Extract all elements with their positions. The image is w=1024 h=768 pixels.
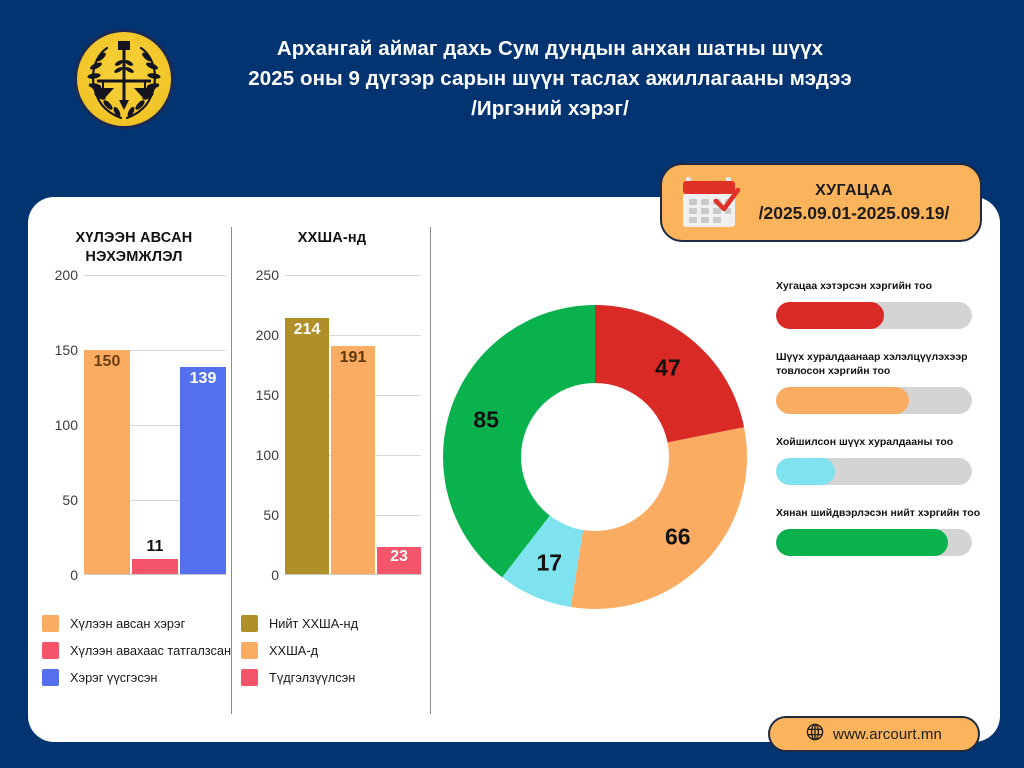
legend-swatch xyxy=(241,669,258,686)
y-tick: 200 xyxy=(256,327,279,343)
y-tick: 50 xyxy=(62,492,78,508)
y-tick: 200 xyxy=(55,267,78,283)
bar-chart-2-title: ХХША-нд xyxy=(241,227,423,269)
y-tick: 100 xyxy=(256,447,279,463)
legend-chart-1: Хүлээн авсан хэрэг Хүлээн авахаас татгал… xyxy=(42,615,231,696)
page-header: Архангай аймаг дахь Сум дундын анхан шат… xyxy=(0,0,1024,170)
metric-label: Хугацаа хэтэрсэн хэргийн тоо xyxy=(776,279,986,293)
legend-item: Хэрэг үүсгэсэн xyxy=(42,669,231,686)
bar-refused[interactable]: 11 xyxy=(132,559,178,576)
y-tick: 150 xyxy=(55,342,78,358)
donut-label-resolved: 85 xyxy=(473,406,499,433)
divider-2 xyxy=(430,227,431,714)
title-line-1: Архангай аймаг дахь Сум дундын анхан шат… xyxy=(190,34,910,64)
title-line-3: /Иргэний хэрэг/ xyxy=(190,94,910,124)
bar-chart-1-title: ХҮЛЭЭН АВСАН НЭХЭМЖЛЭЛ xyxy=(40,227,228,269)
progress-fill xyxy=(776,302,884,329)
legend-label: Түдгэлзүүлсэн xyxy=(269,670,355,685)
legend-item: Хүлээн авсан хэрэг xyxy=(42,615,231,632)
x-axis-line xyxy=(84,574,226,575)
metric-scheduled-hearings: Шүүх хуралдаанаар хэлэлцүүлэхээр товлосо… xyxy=(776,350,986,414)
donut-label-scheduled: 66 xyxy=(665,523,691,550)
globe-icon xyxy=(806,723,824,746)
legend-label: ХХША-д xyxy=(269,643,318,658)
content-card: ХҮЛЭЭН АВСАН НЭХЭМЖЛЭЛ 200 150 100 50 0 … xyxy=(28,197,1000,742)
legend-swatch xyxy=(241,642,258,659)
legend-chart-2: Нийт ХХША-нд ХХША-д Түдгэлзүүлсэн xyxy=(241,615,358,696)
divider-1 xyxy=(231,227,232,714)
website-url-text: www.arcourt.mn xyxy=(833,726,942,743)
legend-item: Хүлээн авахаас татгалзсан xyxy=(42,642,231,659)
bar-column[interactable]: 150 xyxy=(84,275,130,575)
legend-swatch xyxy=(42,642,59,659)
date-badge-label: ХУГАЦАА xyxy=(742,180,966,202)
progress-track xyxy=(776,458,972,485)
progress-track xyxy=(776,387,972,414)
calendar-icon xyxy=(680,175,742,231)
bar-chart-2-plot: 214 191 23 xyxy=(285,275,421,575)
y-tick: 150 xyxy=(256,387,279,403)
title-line-2: 2025 оны 9 дүгээр сарын шүүн таслах ажил… xyxy=(190,64,910,94)
y-tick: 100 xyxy=(55,417,78,433)
website-url-badge[interactable]: www.arcourt.mn xyxy=(768,716,980,752)
bar-value: 139 xyxy=(180,370,226,388)
donut-label-postponed: 17 xyxy=(536,549,562,576)
metrics-panel: Хугацаа хэтэрсэн хэргийн тоо Шүүх хуралд… xyxy=(776,279,986,577)
metric-resolved-cases: Хянан шийдвэрлэсэн нийт хэргийн тоо xyxy=(776,506,986,556)
bar-column[interactable]: 23 xyxy=(377,275,421,575)
y-tick: 50 xyxy=(263,507,279,523)
court-emblem-icon xyxy=(74,29,174,129)
bar-value: 150 xyxy=(84,353,130,371)
metric-postponed-hearings: Хойшилсон шүүх хуралдааны тоо xyxy=(776,435,986,485)
bar-suspended[interactable]: 23 xyxy=(377,547,421,575)
progress-fill xyxy=(776,387,909,414)
progress-track xyxy=(776,302,972,329)
bar-value: 11 xyxy=(132,538,178,556)
bar-chart-1-y-axis: 200 150 100 50 0 xyxy=(40,275,82,575)
bar-value: 191 xyxy=(331,349,375,367)
date-badge-range: /2025.09.01-2025.09.19/ xyxy=(742,202,966,225)
legend-swatch xyxy=(42,669,59,686)
legend-item: Нийт ХХША-нд xyxy=(241,615,358,632)
legend-swatch xyxy=(241,615,258,632)
bar-chart-1-plot: 150 11 139 xyxy=(84,275,226,575)
bar-column[interactable]: 139 xyxy=(180,275,226,575)
legend-swatch xyxy=(42,615,59,632)
metric-overdue-cases: Хугацаа хэтэрсэн хэргийн тоо xyxy=(776,279,986,329)
donut-label-overdue: 47 xyxy=(655,355,681,382)
page-title: Архангай аймаг дахь Сум дундын анхан шат… xyxy=(190,34,910,124)
y-tick: 0 xyxy=(271,567,279,583)
bar-column[interactable]: 11 xyxy=(132,275,178,575)
legend-label: Нийт ХХША-нд xyxy=(269,616,358,631)
legend-item: ХХША-д xyxy=(241,642,358,659)
bar-value: 214 xyxy=(285,321,329,339)
bar-value: 23 xyxy=(377,548,421,566)
bar-chart-xxsha: ХХША-нд 250 200 150 100 50 0 214 xyxy=(241,227,423,575)
y-tick: 0 xyxy=(70,567,78,583)
legend-label: Хүлээн авсан хэрэг xyxy=(70,616,185,631)
x-axis-line xyxy=(285,574,421,575)
bar-column[interactable]: 191 xyxy=(331,275,375,575)
bar-chart-2-y-axis: 250 200 150 100 50 0 xyxy=(241,275,283,575)
donut-chart: 47 66 17 85 xyxy=(440,302,750,612)
bar-xxsha-d[interactable]: 191 xyxy=(331,346,375,575)
date-range-badge: ХУГАЦАА /2025.09.01-2025.09.19/ xyxy=(660,163,982,242)
bar-opened[interactable]: 139 xyxy=(180,367,226,576)
metric-label: Хянан шийдвэрлэсэн нийт хэргийн тоо xyxy=(776,506,986,520)
legend-item: Түдгэлзүүлсэн xyxy=(241,669,358,686)
progress-track xyxy=(776,529,972,556)
legend-label: Хүлээн авахаас татгалзсан xyxy=(70,643,231,658)
bar-received[interactable]: 150 xyxy=(84,350,130,575)
progress-fill xyxy=(776,529,948,556)
metric-label: Хойшилсон шүүх хуралдааны тоо xyxy=(776,435,986,449)
progress-fill xyxy=(776,458,835,485)
bar-total-xxsha[interactable]: 214 xyxy=(285,318,329,575)
legend-label: Хэрэг үүсгэсэн xyxy=(70,670,157,685)
bar-column[interactable]: 214 xyxy=(285,275,329,575)
y-tick: 250 xyxy=(256,267,279,283)
metric-label: Шүүх хуралдаанаар хэлэлцүүлэхээр товлосо… xyxy=(776,350,986,378)
bar-chart-received-claims: ХҮЛЭЭН АВСАН НЭХЭМЖЛЭЛ 200 150 100 50 0 … xyxy=(40,227,228,575)
